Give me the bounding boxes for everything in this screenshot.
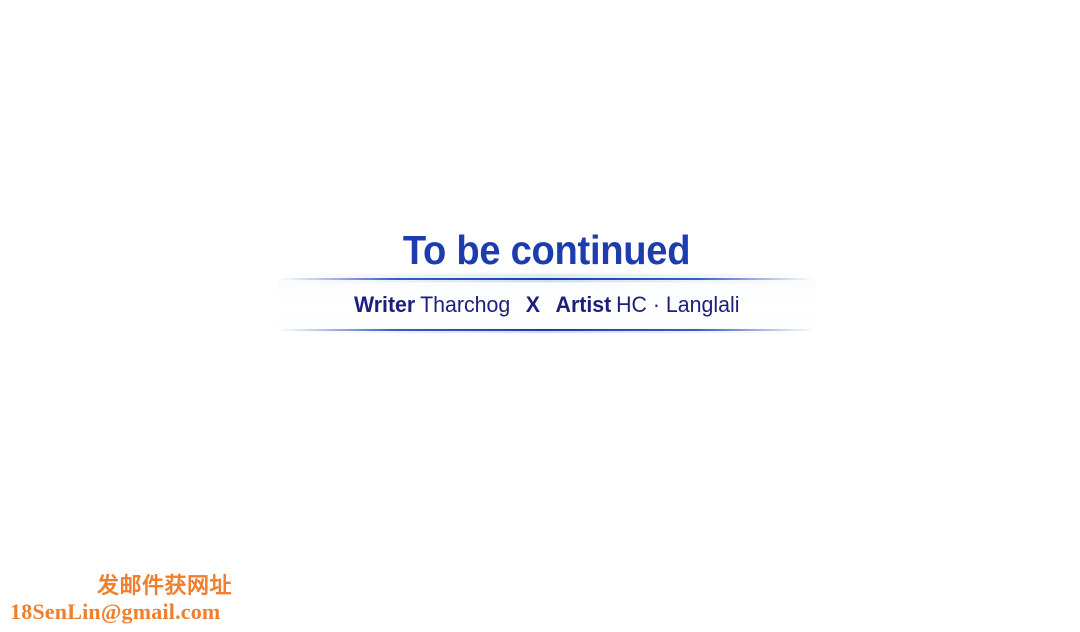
title-row: To be continued	[278, 222, 815, 278]
writer-name: Tharchog	[420, 292, 510, 317]
watermark: 发邮件获网址 18SenLin@gmail.com	[6, 574, 256, 624]
credits-line: WriterTharchogXArtistHC · Langlali	[354, 294, 740, 316]
writer-label: Writer	[354, 292, 415, 317]
divider-bottom-glow	[278, 331, 815, 333]
credits-band: WriterTharchogXArtistHC · Langlali	[278, 281, 815, 329]
divider-bottom	[278, 329, 815, 332]
artist-label: Artist	[555, 292, 611, 317]
credits-separator: X	[526, 292, 540, 317]
artist-name: HC · Langlali	[616, 292, 739, 317]
end-card: To be continued WriterTharchogXArtistHC …	[278, 222, 815, 340]
watermark-email: 18SenLin@gmail.com	[6, 599, 256, 624]
page-title: To be continued	[403, 230, 690, 271]
divider-top-glow	[278, 280, 815, 282]
divider-top	[278, 278, 815, 281]
watermark-chinese-text: 发邮件获网址	[6, 574, 256, 599]
